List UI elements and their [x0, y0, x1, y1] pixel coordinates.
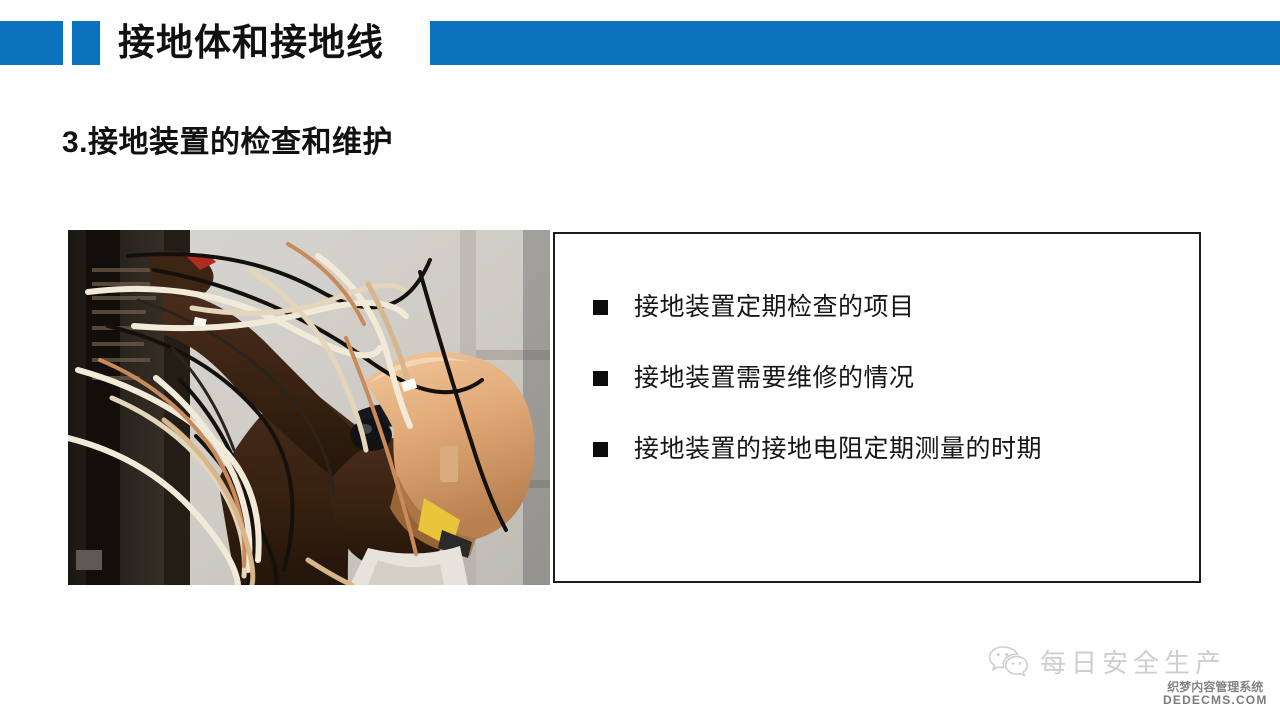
- list-item: 接地装置需要维修的情况: [593, 363, 1183, 393]
- header-accent-bar-icon: [72, 21, 100, 65]
- watermark-label: 每日安全生产: [1040, 643, 1226, 680]
- header-accent-block-icon: [0, 21, 63, 65]
- slide-title: 接地体和接地线: [118, 14, 384, 72]
- bullet-list: 接地装置定期检查的项目 接地装置需要维修的情况 接地装置的接地电阻定期测量的时期: [593, 292, 1183, 464]
- dedecms-en-label: DEDECMS.COM: [1163, 694, 1268, 707]
- dedecms-watermark: 织梦内容管理系统 DEDECMS.COM: [1163, 681, 1268, 707]
- bullet-textbox: 接地装置定期检查的项目 接地装置需要维修的情况 接地装置的接地电阻定期测量的时期: [553, 232, 1201, 583]
- wechat-icon: [988, 645, 1028, 679]
- list-item: 接地装置定期检查的项目: [593, 292, 1183, 322]
- square-bullet-icon: [593, 371, 608, 386]
- square-bullet-icon: [593, 300, 608, 315]
- worker-photo: [68, 230, 550, 585]
- header-blue-bar-icon: [430, 21, 1280, 65]
- square-bullet-icon: [593, 442, 608, 457]
- list-item-label: 接地装置定期检查的项目: [634, 292, 915, 322]
- section-heading: 3.接地装置的检查和维护: [62, 117, 393, 161]
- wechat-watermark: 每日安全生产: [988, 643, 1226, 680]
- slide-header: 接地体和接地线: [0, 0, 1280, 90]
- list-item-label: 接地装置的接地电阻定期测量的时期: [634, 434, 1042, 464]
- list-item: 接地装置的接地电阻定期测量的时期: [593, 434, 1183, 464]
- list-item-label: 接地装置需要维修的情况: [634, 363, 915, 393]
